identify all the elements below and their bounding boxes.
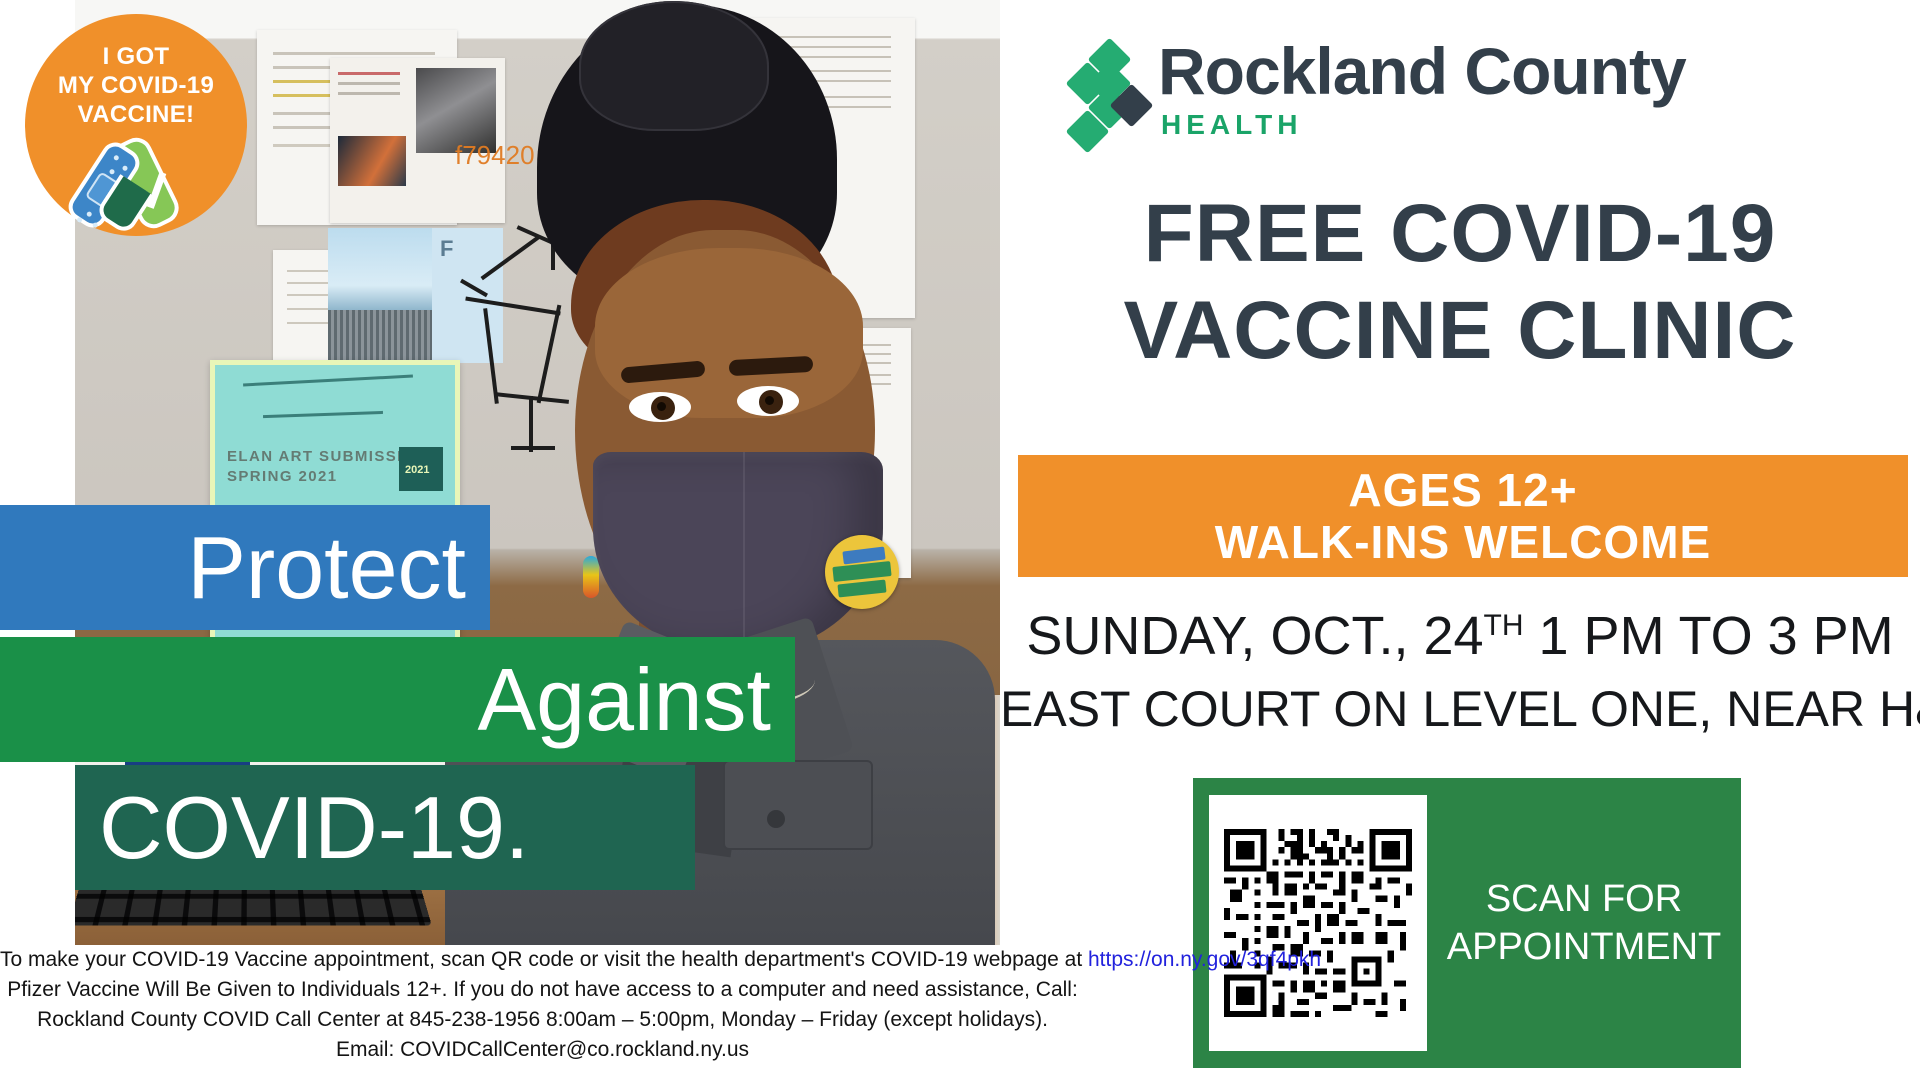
banner-protect: Protect [0,505,490,630]
fine-print-line-1: To make your COVID-19 Vaccine appointmen… [0,945,1085,975]
handwriting-line [263,411,383,418]
qr-label-line-2: APPOINTMENT [1447,926,1721,968]
shirt-button [767,810,785,828]
badge-line-3: VACCINE! [78,101,195,128]
event-time: 1 PM TO 3 PM [1524,606,1894,666]
crowd-image [328,310,432,363]
fine-print-line-4: Email: COVIDCallCenter@co.rockland.ny.us [0,1035,1085,1065]
headline-line-1: FREE COVID-19 [1000,185,1920,282]
handwriting-line [243,375,413,387]
eye [737,386,799,416]
fine-print-line-2: Pfizer Vaccine Will Be Given to Individu… [0,975,1085,1005]
clipping-text-lines [338,72,400,75]
qr-label-line-1: SCAN FOR [1486,878,1682,920]
fine-print-text: To make your COVID-19 Vaccine appointmen… [0,948,1088,971]
vaccine-sticker-pin [825,535,899,609]
event-datetime: SUNDAY, OCT., 24TH 1 PM TO 3 PM [1000,595,1920,667]
badge-line-1: I GOT [103,43,170,70]
qr-code-frame [1209,795,1427,1051]
ages-label: AGES 12+ [1348,464,1577,516]
event-date-prefix: SUNDAY, OCT., 24 [1026,606,1483,666]
walk-ins-label: WALK-INS WELCOME [1215,516,1711,568]
i-got-my-vaccine-badge: I GOT MY COVID-19 VACCINE! [25,14,247,236]
info-column: Rockland County HEALTH FREE COVID-19 VAC… [1000,0,1920,1080]
qr-appointment-panel[interactable]: SCAN FOR APPOINTMENT [1193,778,1741,1068]
health-department-link[interactable]: https://on.ny.gov/3qf4pkh [1088,948,1321,971]
diamond-cluster-logo-icon [1068,42,1142,138]
clipping-photo [338,136,406,186]
fine-print: To make your COVID-19 Vaccine appointmen… [0,945,1085,1065]
logo-title: Rockland County [1158,38,1686,104]
earring [583,556,599,598]
event-location: EAST COURT ON LEVEL ONE, NEAR H&M [1000,680,1920,738]
logo-subtitle: HEALTH [1161,110,1686,140]
date-ordinal: TH [1484,609,1524,642]
qr-code[interactable] [1218,823,1418,1023]
vaccine-clinic-flyer: ELAN ART SUBMISSIONSSPRING 2021 f79420 [0,0,1920,1080]
shirt-pocket [723,760,873,850]
page-title: FREE COVID-19 VACCINE CLINIC [1000,185,1920,379]
rockland-county-health-logo: Rockland County HEALTH [1068,38,1686,140]
scan-for-appointment-label: SCAN FOR APPOINTMENT [1427,875,1741,971]
banner-against: Against [0,637,795,762]
badge-artwork [76,137,196,229]
headline-line-2: VACCINE CLINIC [1000,282,1920,379]
eligibility-banner: AGES 12+ WALK-INS WELCOME [1018,455,1908,577]
sky-image [328,228,432,310]
fine-print-line-3: Rockland County COVID Call Center at 845… [0,1005,1085,1035]
banner-backdrop [0,765,75,890]
badge-line-2: MY COVID-19 [58,72,214,99]
eye [629,392,691,422]
badge-text: I GOT MY COVID-19 VACCINE! [58,42,214,129]
banner-covid: COVID-19. [75,765,695,890]
